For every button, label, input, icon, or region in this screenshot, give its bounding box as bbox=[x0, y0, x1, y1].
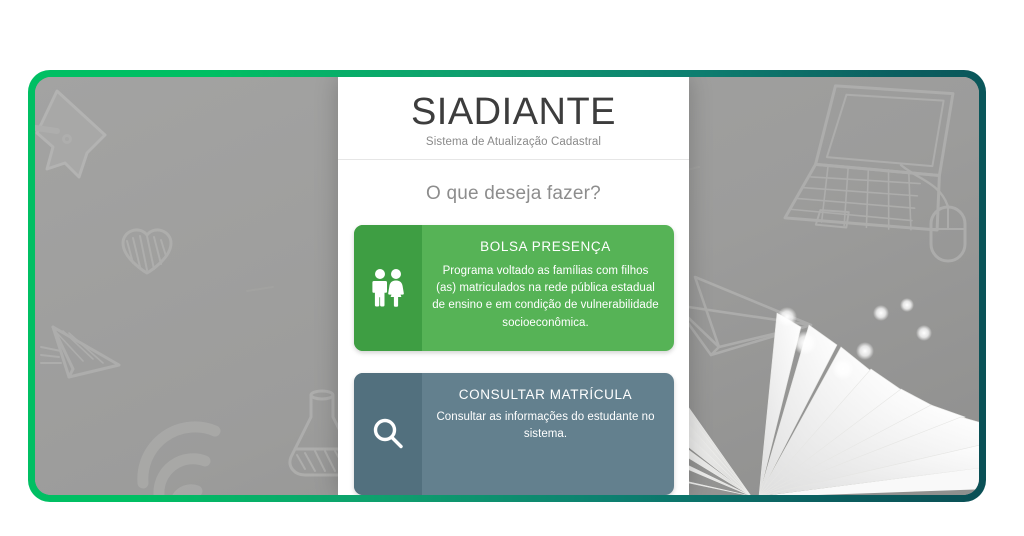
option-card-body: CONSULTAR MATRÍCULA Consultar as informa… bbox=[422, 373, 674, 495]
option-card-body: BOLSA PRESENÇA Programa voltado as famíl… bbox=[422, 225, 674, 351]
search-icon bbox=[354, 373, 422, 495]
option-title: BOLSA PRESENÇA bbox=[480, 239, 611, 254]
frame-inner: SIADIANTE Sistema de Atualização Cadastr… bbox=[35, 77, 979, 495]
option-description: Programa voltado as famílias com filhos … bbox=[432, 263, 660, 332]
bordered-frame: SIADIANTE Sistema de Atualização Cadastr… bbox=[28, 70, 986, 502]
page-title: SIADIANTE bbox=[338, 93, 689, 133]
app-screen: SIADIANTE Sistema de Atualização Cadastr… bbox=[0, 0, 1024, 536]
brand-header: SIADIANTE Sistema de Atualização Cadastr… bbox=[338, 77, 689, 160]
book-photo bbox=[659, 291, 979, 495]
family-icon-glyph bbox=[372, 268, 404, 308]
option-description: Consultar as informações do estudante no… bbox=[432, 409, 660, 444]
book-illustration bbox=[659, 291, 979, 495]
option-title: CONSULTAR MATRÍCULA bbox=[459, 387, 632, 402]
family-icon bbox=[354, 225, 422, 351]
login-panel: SIADIANTE Sistema de Atualização Cadastr… bbox=[338, 77, 689, 495]
option-card-consultar-matricula[interactable]: CONSULTAR MATRÍCULA Consultar as informa… bbox=[354, 373, 674, 495]
prompt-text: O que deseja fazer? bbox=[426, 183, 601, 205]
option-card-bolsa-presenca[interactable]: BOLSA PRESENÇA Programa voltado as famíl… bbox=[354, 225, 674, 351]
page-subtitle: Sistema de Atualização Cadastral bbox=[338, 136, 689, 148]
search-icon-glyph bbox=[370, 416, 406, 452]
